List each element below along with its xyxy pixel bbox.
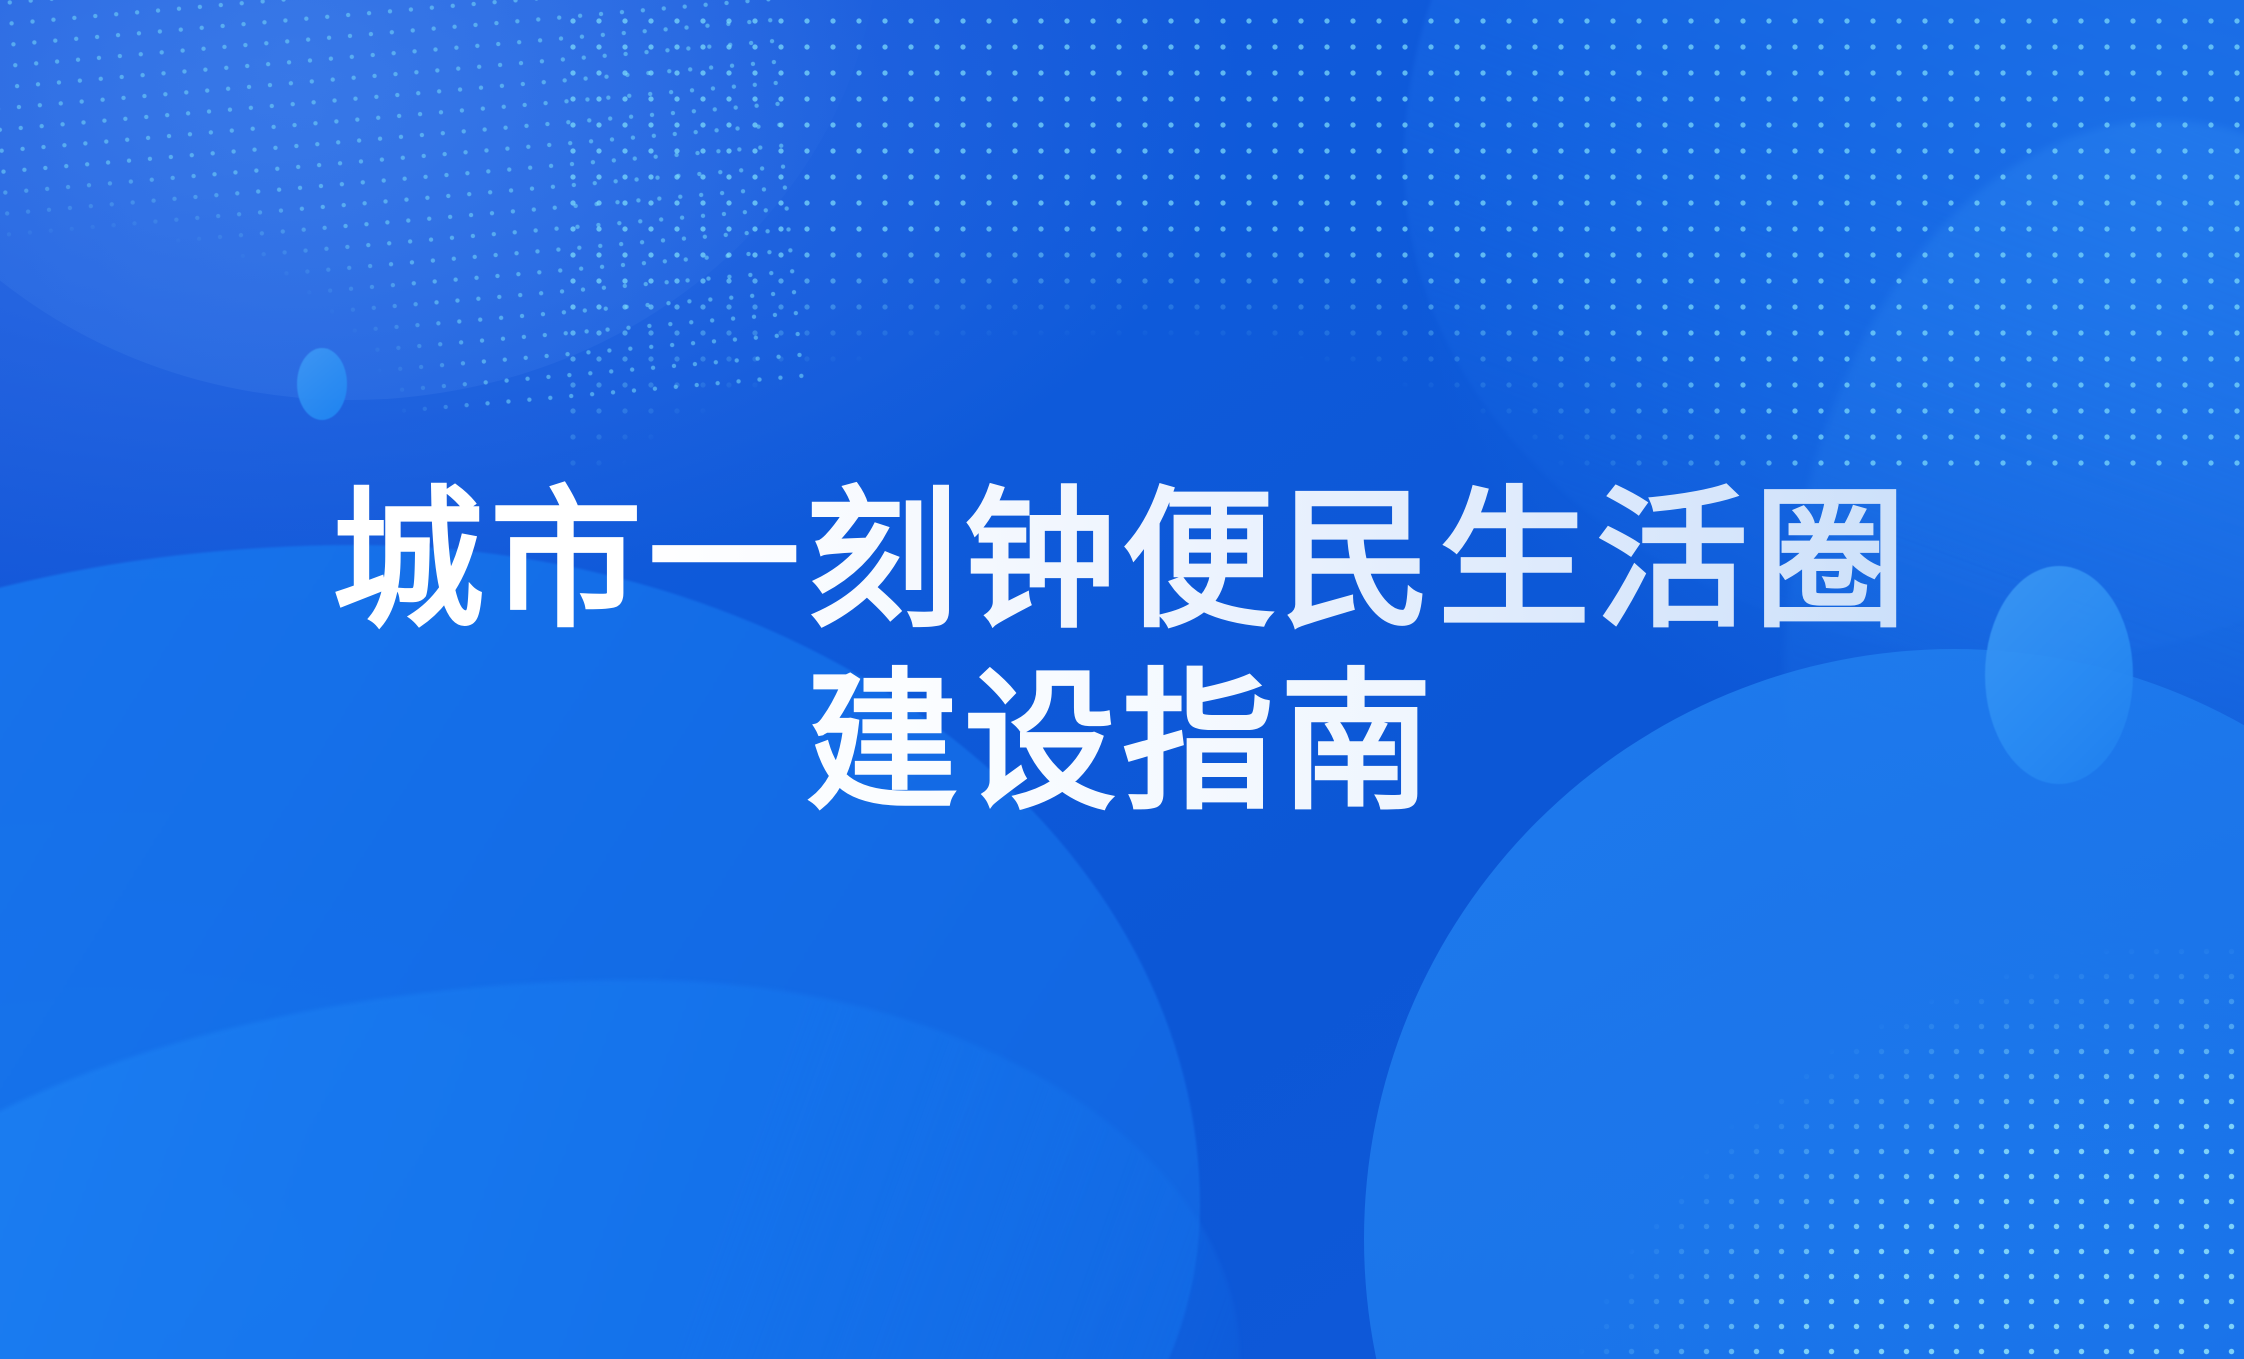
poster-title-line-1: 城市一刻钟便民生活圈 bbox=[0, 470, 2244, 652]
poster-title: 城市一刻钟便民生活圈 建设指南 bbox=[0, 470, 2244, 834]
poster-title-line-2: 建设指南 bbox=[0, 652, 2244, 834]
poster-canvas: 城市一刻钟便民生活圈 建设指南 bbox=[0, 0, 2244, 1359]
